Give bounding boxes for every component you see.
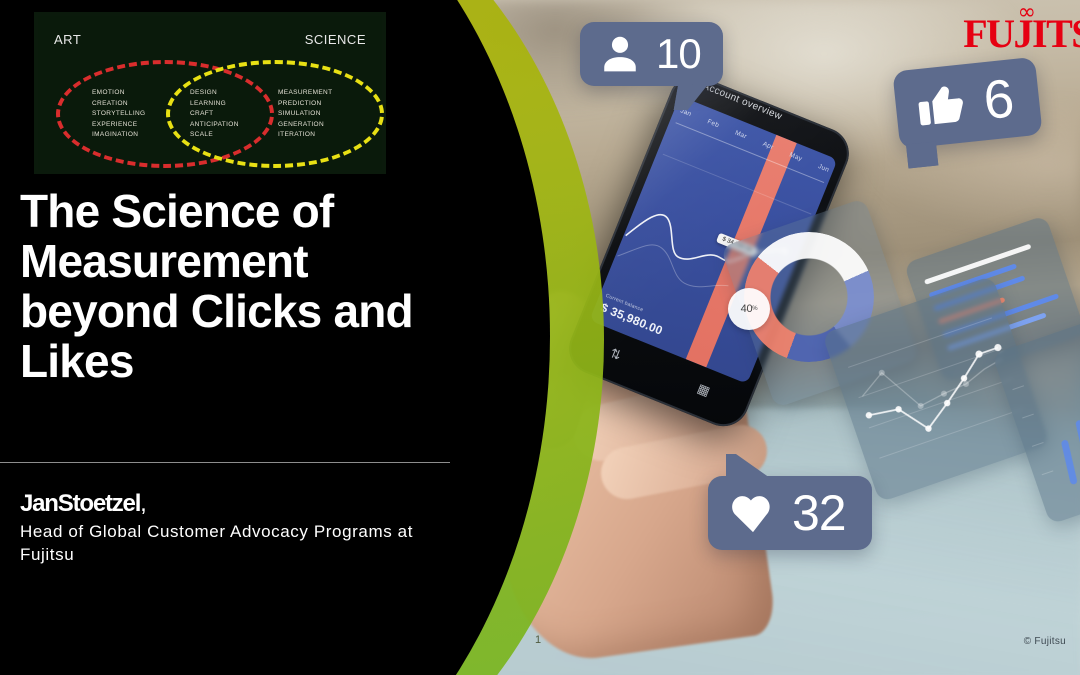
hearts-count: 32 <box>792 488 846 538</box>
venn-column-science: MEASUREMENT PREDICTION SIMULATION GENERA… <box>278 88 332 141</box>
speaker-block: JanStoetzel, Head of Global Customer Adv… <box>20 490 440 566</box>
venn-label-art: ART <box>54 32 81 47</box>
person-icon <box>598 32 642 76</box>
venn-canvas: ART SCIENCE EMOTION CREATION STORYTELLIN… <box>38 16 382 170</box>
speaker-name-line: JanStoetzel, <box>20 490 440 518</box>
badge-tail <box>726 454 770 478</box>
venn-label-science: SCIENCE <box>305 32 366 47</box>
divider <box>0 462 450 463</box>
venn-column-overlap: DESIGN LEARNING CRAFT ANTICIPATION SCALE <box>190 88 239 141</box>
month-tick: Jun <box>817 163 830 174</box>
fujitsu-logo: FUJITS <box>963 14 1080 54</box>
likes-count: 6 <box>981 71 1016 128</box>
donut-value-badge: 40% <box>728 288 770 330</box>
title-panel: ART SCIENCE EMOTION CREATION STORYTELLIN… <box>0 0 470 675</box>
donut-unit: % <box>752 306 757 312</box>
badge-followers: 10 <box>580 22 723 86</box>
venn-column-art: EMOTION CREATION STORYTELLING EXPERIENCE… <box>92 88 145 141</box>
badge-tail <box>674 84 709 110</box>
page-title: The Science of Measurement beyond Clicks… <box>20 186 420 387</box>
thumbs-up-icon <box>913 76 972 135</box>
venn-diagram-image: ART SCIENCE EMOTION CREATION STORYTELLIN… <box>30 8 390 178</box>
transfer-icon[interactable]: ⇅ <box>607 345 623 364</box>
month-tick: May <box>788 151 803 162</box>
badge-tail <box>906 142 938 169</box>
month-tick: Mar <box>734 129 748 140</box>
followers-count: 10 <box>656 33 701 75</box>
presentation-slide: Jan Feb Mar Apr May Jun $ 34,290.00 Curr… <box>0 0 1080 675</box>
copyright-notice: © Fujitsu <box>1024 636 1066 647</box>
month-tick: Feb <box>706 118 720 129</box>
badge-hearts: 32 <box>708 476 872 550</box>
speaker-role: Head of Global Customer Advocacy Program… <box>20 521 440 566</box>
apps-grid-icon[interactable]: ▦ <box>695 380 712 399</box>
slide-number: 1 <box>535 634 541 646</box>
speaker-name-comma: , <box>140 490 147 517</box>
heart-icon <box>728 488 778 538</box>
badge-likes: 6 <box>892 57 1042 150</box>
speaker-name: JanStoetzel <box>20 490 140 517</box>
donut-value: 40 <box>741 303 753 315</box>
axis-gridline <box>675 122 824 183</box>
